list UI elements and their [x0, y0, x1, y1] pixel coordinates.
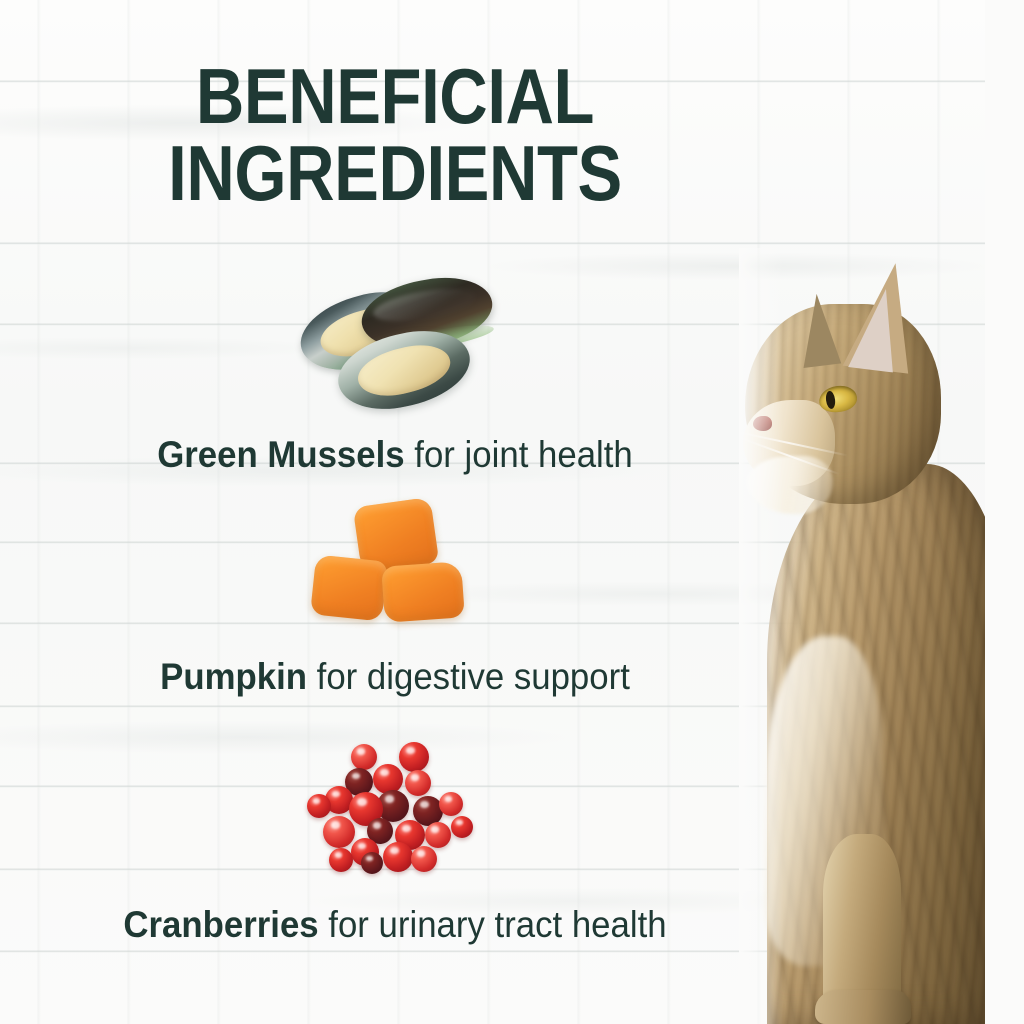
right-margin	[985, 0, 1024, 1024]
cranberry	[323, 816, 355, 848]
cat-chin	[747, 456, 833, 514]
cat-front-paw	[815, 990, 911, 1024]
cranberry	[399, 742, 429, 772]
cranberry	[411, 846, 437, 872]
page-title: BENEFICIAL INGREDIENTS	[55, 58, 734, 212]
ingredient-name: Green Mussels	[157, 434, 404, 475]
cranberry	[373, 764, 403, 794]
cranberry	[383, 842, 413, 872]
ingredient-benefit: for digestive support	[307, 656, 630, 697]
cat-pupil	[825, 390, 836, 409]
cranberries-image	[0, 742, 790, 882]
pumpkin-image	[0, 496, 790, 636]
ingredient-name: Pumpkin	[160, 656, 307, 697]
ingredient-row-pumpkin: Pumpkin for digestive support	[0, 496, 790, 695]
ingredient-row-cranberries: Cranberries for urinary tract health	[0, 742, 790, 943]
green-mussels-image	[0, 272, 790, 412]
ingredient-name: Cranberries	[123, 904, 318, 945]
page-title-line-1: BENEFICIAL	[55, 58, 734, 135]
cat-head	[745, 304, 941, 504]
ingredient-caption-cranberries: Cranberries for urinary tract health	[24, 906, 767, 943]
pumpkin-chunk-left	[310, 554, 388, 621]
cat-nose	[753, 416, 772, 431]
pumpkin-chunk-right	[381, 561, 465, 622]
ingredient-caption-green-mussels: Green Mussels for joint health	[24, 436, 767, 473]
cranberry	[439, 792, 463, 816]
ingredient-row-green-mussels: Green Mussels for joint health	[0, 272, 790, 473]
cranberry-cluster	[305, 742, 485, 882]
beneficial-ingredients-poster: BENEFICIAL INGREDIENTS Green Mussels for…	[0, 0, 1024, 1024]
cranberry	[451, 816, 473, 838]
plank-seam	[0, 242, 1024, 245]
cranberry	[329, 848, 353, 872]
ingredient-caption-pumpkin: Pumpkin for digestive support	[24, 658, 767, 695]
cranberry	[307, 794, 331, 818]
ingredient-benefit: for joint health	[405, 434, 633, 475]
cranberry	[361, 852, 383, 874]
cranberry	[405, 770, 431, 796]
cranberry	[425, 822, 451, 848]
cranberry	[351, 744, 377, 770]
page-title-line-2: INGREDIENTS	[55, 135, 734, 212]
cat-photo	[739, 248, 985, 1024]
ingredient-benefit: for urinary tract health	[319, 904, 667, 945]
